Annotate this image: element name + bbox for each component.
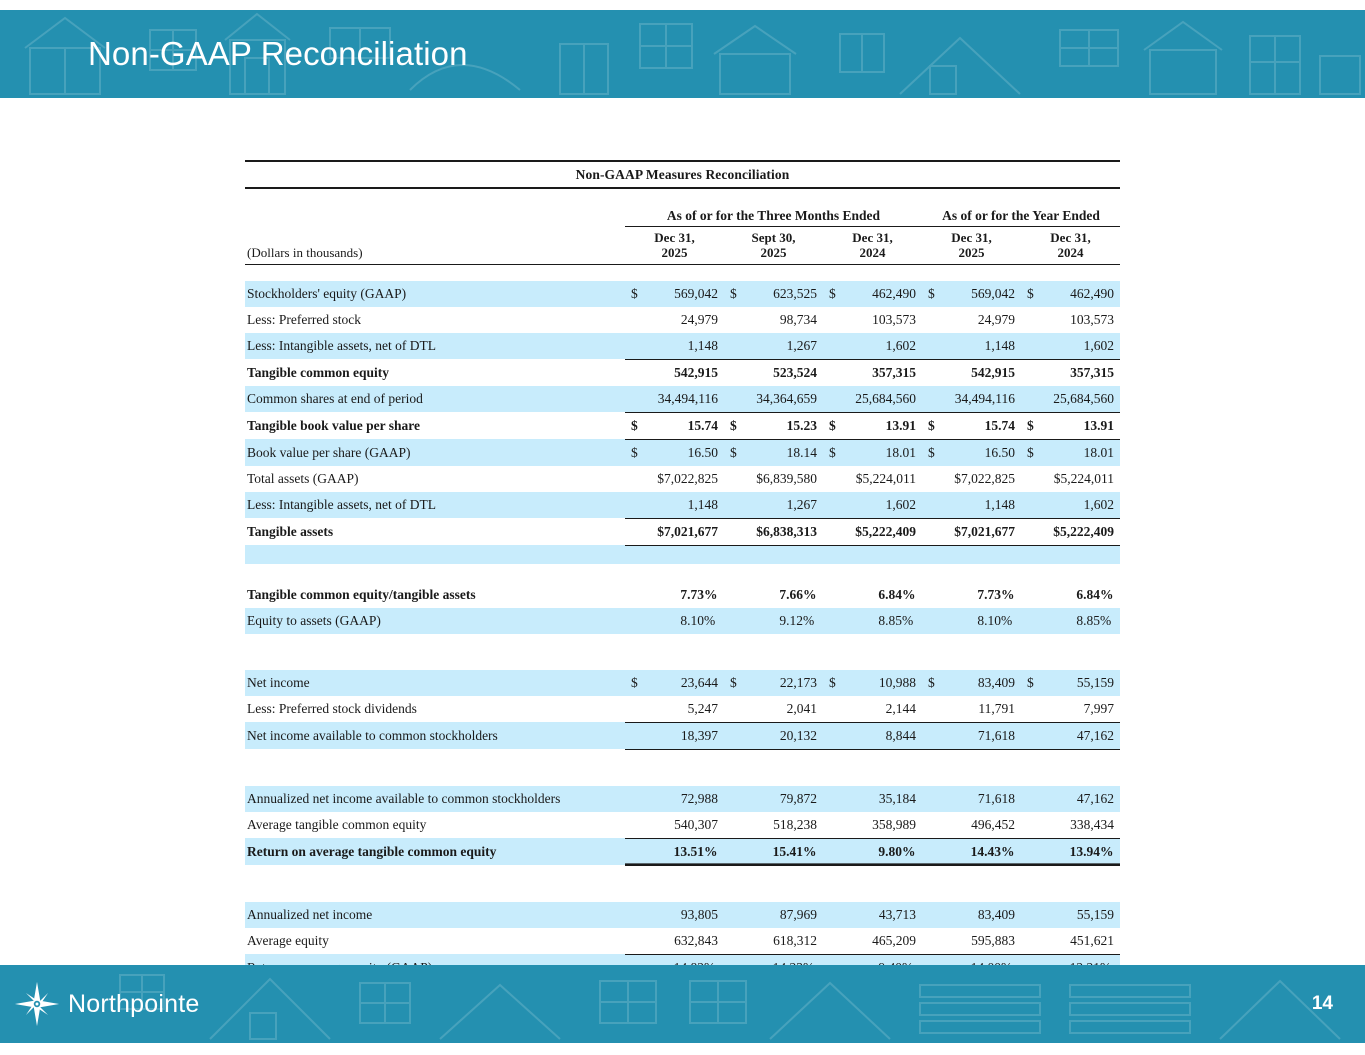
percent-symbol: % (803, 844, 817, 860)
row-value: 25,684,560 (1021, 386, 1120, 413)
row-value: $23,644 (625, 670, 724, 696)
currency-symbol: $ (829, 286, 836, 302)
column-header-0: Dec 31, 2025 (625, 227, 724, 264)
table-row: Less: Intangible assets, net of DTL1,148… (245, 492, 1120, 519)
row-value: 357,315 (823, 359, 922, 386)
row-value: $5,224,011 (823, 466, 922, 492)
row-value: 47,162 (1021, 786, 1120, 812)
row-value: 72,988 (625, 786, 724, 812)
row-value: 18,397 (625, 722, 724, 749)
row-value: $15.23 (724, 412, 823, 439)
row-value: 87,969 (724, 902, 823, 928)
row-value: $462,490 (823, 281, 922, 307)
row-value: $18.01 (823, 439, 922, 466)
table-row: Net income$23,644$22,173$10,988$83,409$5… (245, 670, 1120, 696)
group-header-year: As of or for the Year Ended (922, 205, 1120, 227)
row-value: 14.43 % (922, 838, 1021, 865)
percent-symbol: % (704, 613, 718, 629)
table-spacer-cell (245, 634, 1120, 652)
row-value: 1,267 (724, 333, 823, 360)
currency-symbol: $ (631, 675, 638, 691)
row-value: 55,159 (1021, 902, 1120, 928)
row-value: $16.50 (922, 439, 1021, 466)
row-value: $13.91 (1021, 412, 1120, 439)
currency-symbol: $ (1027, 286, 1034, 302)
row-value: 13.51 % (625, 838, 724, 865)
currency-symbol: $ (928, 675, 935, 691)
row-value: $18.14 (724, 439, 823, 466)
row-value: 11,791 (922, 696, 1021, 723)
row-value: 1,267 (724, 492, 823, 519)
row-value: 103,573 (1021, 307, 1120, 333)
percent-symbol: % (1100, 587, 1114, 603)
table-row: Annualized net income93,80587,96943,7138… (245, 902, 1120, 928)
row-value: 2,041 (724, 696, 823, 723)
row-value: $22,173 (724, 670, 823, 696)
table-spacer-row (245, 749, 1120, 768)
row-value: $7,022,825 (625, 466, 724, 492)
table-sheet-title: Non-GAAP Measures Reconciliation (245, 162, 1120, 188)
row-label: Less: Intangible assets, net of DTL (245, 492, 625, 519)
page-title: Non-GAAP Reconciliation (88, 35, 468, 73)
row-label: Annualized net income available to commo… (245, 786, 625, 812)
row-value: 465,209 (823, 928, 922, 955)
row-value: 71,618 (922, 786, 1021, 812)
currency-symbol: $ (730, 675, 737, 691)
row-value: 15.41 % (724, 838, 823, 865)
table-row: Return on average tangible common equity… (245, 838, 1120, 865)
row-value: 632,843 (625, 928, 724, 955)
group-header-three-months: As of or for the Three Months Ended (625, 205, 922, 227)
row-value: $13.91 (823, 412, 922, 439)
row-value: 9.80 % (823, 838, 922, 865)
row-value: 542,915 (922, 359, 1021, 386)
row-label: Annualized net income (245, 902, 625, 928)
non-gaap-reconciliation-table-wrapper: Non-GAAP Measures Reconciliation As of o… (245, 160, 1120, 982)
head-spacer (245, 189, 1120, 205)
percent-symbol: % (902, 844, 916, 860)
row-label: Tangible assets (245, 518, 625, 545)
row-label: Stockholders' equity (GAAP) (245, 281, 625, 307)
non-gaap-reconciliation-table: Non-GAAP Measures Reconciliation As of o… (245, 160, 1120, 982)
row-label: Less: Preferred stock (245, 307, 625, 333)
currency-symbol: $ (829, 445, 836, 461)
row-value: 24,979 (922, 307, 1021, 333)
row-value: 1,602 (823, 333, 922, 360)
row-value: 8.10 % (625, 608, 724, 634)
table-spacer-row (245, 564, 1120, 582)
percent-symbol: % (1001, 844, 1015, 860)
row-value: $462,490 (1021, 281, 1120, 307)
row-value: 7.66 % (724, 582, 823, 608)
table-row: Equity to assets (GAAP)8.10 %9.12 %8.85 … (245, 608, 1120, 634)
row-value: 338,434 (1021, 812, 1120, 839)
currency-symbol: $ (631, 286, 638, 302)
row-value: $16.50 (625, 439, 724, 466)
row-value: $55,159 (1021, 670, 1120, 696)
row-value: $15.74 (922, 412, 1021, 439)
currency-symbol: $ (1027, 445, 1034, 461)
row-value: $5,224,011 (1021, 466, 1120, 492)
row-value: $83,409 (922, 670, 1021, 696)
table-head-section: Non-GAAP Measures Reconciliation As of o… (245, 161, 1120, 281)
row-value: 7,997 (1021, 696, 1120, 723)
column-header-3: Dec 31, 2025 (922, 227, 1021, 264)
row-value: $7,021,677 (922, 518, 1021, 545)
row-label: Net income available to common stockhold… (245, 722, 625, 749)
currency-symbol: $ (829, 418, 836, 434)
row-value: 13.94 % (1021, 838, 1120, 865)
row-value: 8.10 % (922, 608, 1021, 634)
row-value: 93,805 (625, 902, 724, 928)
row-value: 8.85 % (823, 608, 922, 634)
row-label: Equity to assets (GAAP) (245, 608, 625, 634)
group-header-row: As of or for the Three Months Ended As o… (245, 205, 1120, 227)
currency-symbol: $ (928, 286, 935, 302)
currency-symbol: $ (1027, 675, 1034, 691)
table-spacer-row (245, 865, 1120, 884)
row-value: $10,988 (823, 670, 922, 696)
table-row: Tangible book value per share$15.74$15.2… (245, 412, 1120, 439)
currency-symbol: $ (730, 418, 737, 434)
row-value: 2,144 (823, 696, 922, 723)
table-spacer-row (245, 652, 1120, 670)
row-value: 7.73 % (922, 582, 1021, 608)
row-label: Book value per share (GAAP) (245, 439, 625, 466)
row-value: $15.74 (625, 412, 724, 439)
table-row: Less: Preferred stock24,97998,734103,573… (245, 307, 1120, 333)
table-row: Annualized net income available to commo… (245, 786, 1120, 812)
row-value: 8.85 % (1021, 608, 1120, 634)
footer-banner: Northpointe 14 (0, 965, 1365, 1043)
currency-symbol: $ (1027, 418, 1034, 434)
row-value: $7,021,677 (625, 518, 724, 545)
row-value: $569,042 (922, 281, 1021, 307)
row-value: 618,312 (724, 928, 823, 955)
percent-symbol: % (902, 613, 916, 629)
table-body: Stockholders' equity (GAAP)$569,042$623,… (245, 281, 1120, 982)
table-spacer-cell (245, 768, 1120, 786)
column-header-2: Dec 31, 2024 (823, 227, 922, 264)
table-row: Tangible common equity542,915523,524357,… (245, 359, 1120, 386)
row-value: 358,989 (823, 812, 922, 839)
column-header-row: (Dollars in thousands) Dec 31, 2025 Sept… (245, 227, 1120, 264)
row-value: 83,409 (922, 902, 1021, 928)
row-label: Net income (245, 670, 625, 696)
row-value: 25,684,560 (823, 386, 922, 413)
table-spacer-row (245, 545, 1120, 564)
table-row: Less: Intangible assets, net of DTL1,148… (245, 333, 1120, 360)
percent-symbol: % (902, 587, 916, 603)
brand-name: Northpointe (68, 990, 199, 1019)
brand-logo: Northpointe (14, 981, 199, 1027)
currency-symbol: $ (631, 418, 638, 434)
body-spacer (245, 264, 1120, 281)
table-row: Tangible common equity/tangible assets7.… (245, 582, 1120, 608)
table-row: Average tangible common equity540,307518… (245, 812, 1120, 839)
row-value: 1,148 (625, 333, 724, 360)
row-value: 6.84 % (1021, 582, 1120, 608)
currency-symbol: $ (928, 418, 935, 434)
row-value: 35,184 (823, 786, 922, 812)
currency-symbol: $ (730, 445, 737, 461)
row-label: Tangible common equity (245, 359, 625, 386)
row-value: 79,872 (724, 786, 823, 812)
table-spacer-row (245, 634, 1120, 652)
table-spacer-cell (245, 652, 1120, 670)
slide: Non-GAAP Reconciliation Non-GAAP Measure… (0, 0, 1365, 1055)
row-value: $623,525 (724, 281, 823, 307)
row-value: 1,148 (922, 492, 1021, 519)
currency-symbol: $ (631, 445, 638, 461)
table-spacer-cell (245, 564, 1120, 582)
row-value: 43,713 (823, 902, 922, 928)
table-spacer-cell (245, 865, 1120, 884)
row-value: 523,524 (724, 359, 823, 386)
table-spacer-row (245, 884, 1120, 902)
row-label: Less: Preferred stock dividends (245, 696, 625, 723)
currency-symbol: $ (730, 286, 737, 302)
currency-symbol: $ (928, 445, 935, 461)
row-value: 1,148 (625, 492, 724, 519)
row-value: 24,979 (625, 307, 724, 333)
row-label: Average equity (245, 928, 625, 955)
percent-symbol: % (1001, 613, 1015, 629)
row-label: Common shares at end of period (245, 386, 625, 413)
row-value: 9.12 % (724, 608, 823, 634)
percent-symbol: % (1100, 613, 1114, 629)
row-value: 7.73 % (625, 582, 724, 608)
percent-symbol: % (803, 613, 817, 629)
table-row: Common shares at end of period34,494,116… (245, 386, 1120, 413)
table-row: Net income available to common stockhold… (245, 722, 1120, 749)
table-row: Average equity632,843618,312465,209595,8… (245, 928, 1120, 955)
row-value: 34,494,116 (625, 386, 724, 413)
percent-symbol: % (1100, 844, 1114, 860)
row-label: Return on average tangible common equity (245, 838, 625, 865)
table-row: Stockholders' equity (GAAP)$569,042$623,… (245, 281, 1120, 307)
row-value: 20,132 (724, 722, 823, 749)
row-value: 496,452 (922, 812, 1021, 839)
table-row: Tangible assets$7,021,677$6,838,313$5,22… (245, 518, 1120, 545)
compass-rose-icon (14, 981, 60, 1027)
row-value: $569,042 (625, 281, 724, 307)
table-spacer-cell (245, 749, 1120, 768)
row-value: 34,494,116 (922, 386, 1021, 413)
percent-symbol: % (704, 587, 718, 603)
row-label: Tangible common equity/tangible assets (245, 582, 625, 608)
row-value: 47,162 (1021, 722, 1120, 749)
row-value: $6,838,313 (724, 518, 823, 545)
page-number: 14 (1312, 993, 1333, 1015)
row-label: Total assets (GAAP) (245, 466, 625, 492)
row-value: 1,602 (823, 492, 922, 519)
row-value: $6,839,580 (724, 466, 823, 492)
units-label: (Dollars in thousands) (245, 227, 625, 264)
row-value: 71,618 (922, 722, 1021, 749)
row-value: $18.01 (1021, 439, 1120, 466)
row-value: 8,844 (823, 722, 922, 749)
percent-symbol: % (1001, 587, 1015, 603)
row-label: Tangible book value per share (245, 412, 625, 439)
row-value: $5,222,409 (823, 518, 922, 545)
table-spacer-cell (245, 545, 1120, 564)
row-value: 103,573 (823, 307, 922, 333)
percent-symbol: % (704, 844, 718, 860)
table-spacer-cell (245, 884, 1120, 902)
table-spacer-row (245, 768, 1120, 786)
column-header-4: Dec 31, 2024 (1021, 227, 1120, 264)
row-value: 5,247 (625, 696, 724, 723)
row-value: 540,307 (625, 812, 724, 839)
row-label: Average tangible common equity (245, 812, 625, 839)
row-value: $7,022,825 (922, 466, 1021, 492)
row-value: 542,915 (625, 359, 724, 386)
header-banner: Non-GAAP Reconciliation (0, 10, 1365, 98)
table-row: Total assets (GAAP)$7,022,825$6,839,580$… (245, 466, 1120, 492)
row-value: 1,602 (1021, 333, 1120, 360)
table-row: Less: Preferred stock dividends5,2472,04… (245, 696, 1120, 723)
table-row: Book value per share (GAAP)$16.50$18.14$… (245, 439, 1120, 466)
row-value: 98,734 (724, 307, 823, 333)
row-value: 518,238 (724, 812, 823, 839)
row-value: 1,602 (1021, 492, 1120, 519)
row-value: 595,883 (922, 928, 1021, 955)
percent-symbol: % (803, 587, 817, 603)
group-header-blank (245, 205, 625, 227)
row-value: $5,222,409 (1021, 518, 1120, 545)
column-header-1: Sept 30, 2025 (724, 227, 823, 264)
row-value: 1,148 (922, 333, 1021, 360)
row-label: Less: Intangible assets, net of DTL (245, 333, 625, 360)
row-value: 6.84 % (823, 582, 922, 608)
row-value: 451,621 (1021, 928, 1120, 955)
currency-symbol: $ (829, 675, 836, 691)
row-value: 34,364,659 (724, 386, 823, 413)
row-value: 357,315 (1021, 359, 1120, 386)
table-sheet-title-row: Non-GAAP Measures Reconciliation (245, 162, 1120, 188)
